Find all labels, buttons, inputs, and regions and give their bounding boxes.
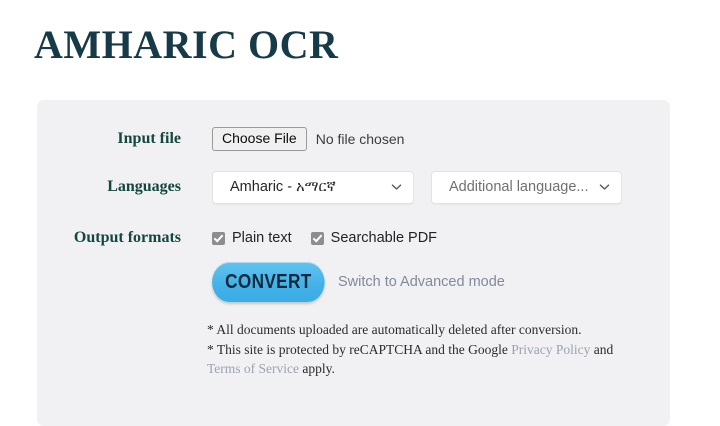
convert-button[interactable]: CONVERT [212,262,325,302]
primary-language-select[interactable]: Amharic - አማርኛ [212,171,414,204]
chevron-down-icon [391,182,402,193]
recaptcha-text-part3: apply. [299,361,335,376]
languages-control: Amharic - አማርኛ Additional language... [212,171,622,204]
footnotes: * All documents uploaded are automatical… [207,320,627,379]
output-formats-label: Output formats [37,229,181,247]
form-row-output-formats: Output formats Plain text Searchable PDF [37,226,670,250]
secondary-language-value: Additional language... [432,179,614,195]
checkbox-searchable-pdf[interactable]: Searchable PDF [311,230,437,246]
convert-action-row: CONVERT Switch to Advanced mode [212,262,505,302]
form-row-languages: Languages Amharic - አማርኛ Additional lang… [37,170,670,204]
input-file-label: Input file [37,130,181,148]
primary-language-value: Amharic - አማርኛ [213,179,362,195]
languages-label: Languages [37,178,181,196]
output-formats-control: Plain text Searchable PDF [212,230,437,246]
input-file-control: Choose File No file chosen [212,127,404,151]
checkbox-plain-text-label: Plain text [232,230,292,246]
choose-file-button[interactable]: Choose File [212,127,307,151]
chevron-down-icon [599,182,610,193]
file-status-text: No file chosen [316,131,405,147]
checkbox-searchable-pdf-label: Searchable PDF [331,230,437,246]
terms-of-service-link[interactable]: Terms of Service [207,361,299,376]
form-row-input-file: Input file Choose File No file chosen [37,126,670,152]
switch-to-advanced-mode-link[interactable]: Switch to Advanced mode [338,274,505,290]
checkmark-icon[interactable] [311,232,324,245]
recaptcha-text-part1: * This site is protected by reCAPTCHA an… [207,342,511,357]
page-title: AMHARIC OCR [34,20,338,70]
checkmark-icon[interactable] [212,232,225,245]
footnote-deletion-notice: * All documents uploaded are automatical… [207,320,627,339]
footnote-recaptcha-notice: * This site is protected by reCAPTCHA an… [207,340,627,378]
secondary-language-select[interactable]: Additional language... [431,171,622,204]
recaptcha-text-part2: and [590,342,613,357]
checkbox-plain-text[interactable]: Plain text [212,230,292,246]
privacy-policy-link[interactable]: Privacy Policy [511,342,590,357]
ocr-form-panel: Input file Choose File No file chosen La… [37,100,670,426]
output-formats-checkbox-group: Plain text Searchable PDF [212,230,437,246]
